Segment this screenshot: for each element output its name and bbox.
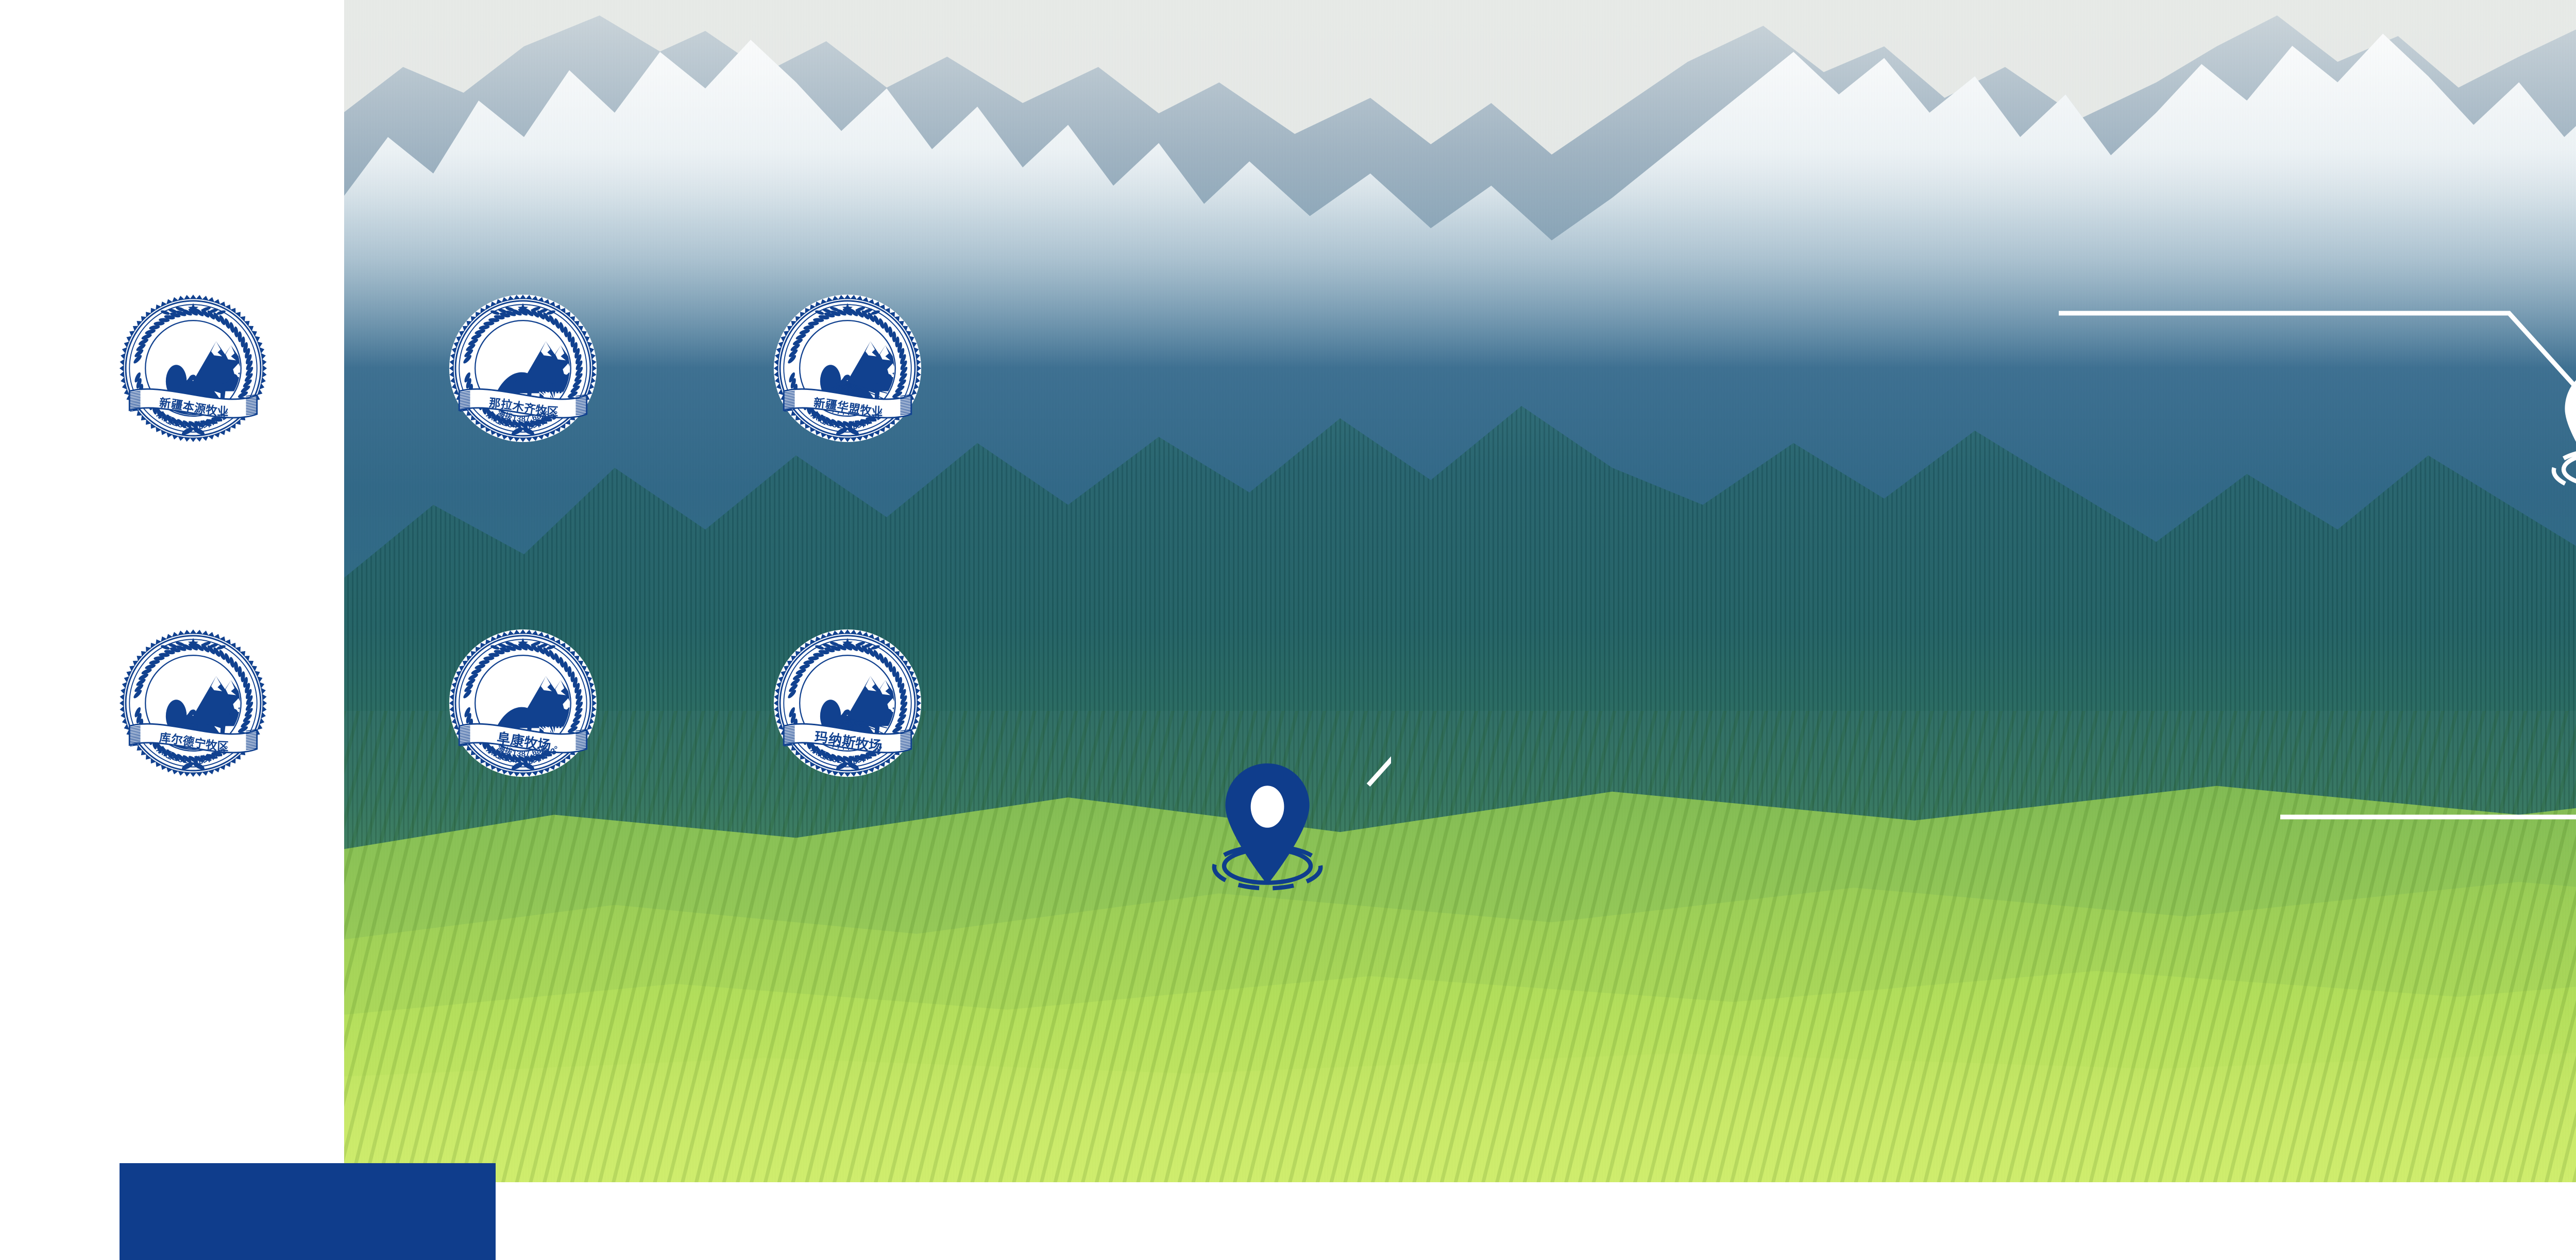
badge-nalamuqi[interactable]: 那拉木齐牧区海拔1387.68米东经E84° 北纬N43° <box>448 294 598 443</box>
badge-fukang[interactable]: 阜康牧场海拔1387.68米东经E84° 北纬N43° <box>448 628 598 778</box>
map-pin-icon <box>2565 367 2576 488</box>
callout-organic-matter-pin[interactable] <box>1206 757 1329 899</box>
badge-xinjiang-benyuan[interactable]: 新疆本源牧业东经E81° 北纬N42° <box>118 294 268 443</box>
callout-air-water-pin[interactable] <box>2545 361 2576 503</box>
callout-organic-matter-leader-line <box>1360 722 1391 788</box>
badge-kuerdening[interactable]: 库尔德宁牧区东经E81° 北纬N42° <box>118 628 268 778</box>
callout-air-water-leader-line <box>2056 310 2576 391</box>
callout-latitude-43-leader-line <box>2277 814 2576 922</box>
banner-stage: 新疆本源牧业东经E81° 北纬N42°那拉木齐牧区海拔1387.68米东经E84… <box>0 0 2576 1260</box>
farm-badge-group: 新疆本源牧业东经E81° 北纬N42°那拉木齐牧区海拔1387.68米东经E84… <box>0 0 2576 1260</box>
badge-xinjiang-huameng[interactable]: 新疆华盟牧业东经E82° 北纬N42° <box>773 294 922 443</box>
badge-manasi[interactable]: 玛纳斯牧场东经E82° 北纬N42° <box>773 628 922 778</box>
